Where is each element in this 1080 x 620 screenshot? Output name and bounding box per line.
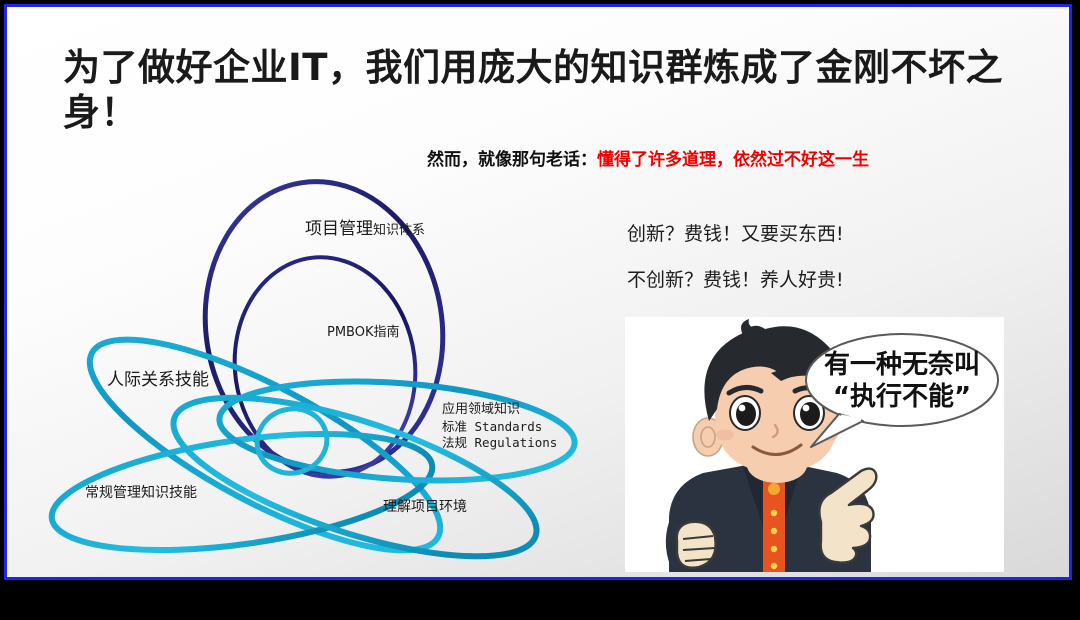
- character-left-fist: [666, 522, 724, 572]
- bubble-text-line1: 有一种无奈叫: [824, 350, 980, 380]
- label-pm-big: 项目管理: [305, 219, 373, 239]
- cost-line-no-innovate: 不创新？费钱！养人好贵!: [627, 265, 844, 292]
- label-application-domain: 应用领域知识 标准 Standards 法规 Regulations: [442, 401, 557, 451]
- cost-line-innovate: 创新？费钱！又要买东西!: [627, 219, 844, 246]
- subtitle-red-part: 懂得了许多道理，依然过不好这一生: [597, 150, 869, 170]
- cartoon-illustration: 有一种无奈叫 “执行不能”: [625, 317, 1004, 572]
- label-pm-small: 知识体系: [373, 223, 425, 238]
- knowledge-ellipse-diagram: 项目管理知识体系 PMBOK指南 人际关系技能 常规管理知识技能 理解项目环境 …: [37, 177, 607, 577]
- slide-frame: 为了做好企业IT，我们用庞大的知识群炼成了金刚不坏之身！ 然而，就像那句老话：懂…: [4, 4, 1072, 580]
- label-pm-knowledge-system: 项目管理知识体系: [305, 219, 425, 241]
- subtitle-black-part: 然而，就像那句老话：: [427, 150, 597, 170]
- label-app-line3: 法规 Regulations: [442, 435, 557, 450]
- label-interpersonal-skills: 人际关系技能: [107, 370, 209, 392]
- label-project-environment: 理解项目环境: [383, 499, 467, 517]
- slide-canvas: 为了做好企业IT，我们用庞大的知识群炼成了金刚不坏之身！ 然而，就像那句老话：懂…: [7, 7, 1069, 577]
- slide-stage: 为了做好企业IT，我们用庞大的知识群炼成了金刚不坏之身！ 然而，就像那句老话：懂…: [0, 0, 1080, 620]
- label-app-line1: 应用领域知识: [442, 402, 520, 417]
- label-general-management: 常规管理知识技能: [85, 485, 197, 503]
- bubble-text-line2: “执行不能”: [833, 381, 971, 412]
- page-title: 为了做好企业IT，我们用庞大的知识群炼成了金刚不坏之身！: [63, 45, 1013, 135]
- label-pmbok-guide: PMBOK指南: [327, 325, 400, 342]
- label-app-line2: 标准 Standards: [442, 419, 542, 434]
- subtitle: 然而，就像那句老话：懂得了许多道理，依然过不好这一生: [427, 145, 1027, 170]
